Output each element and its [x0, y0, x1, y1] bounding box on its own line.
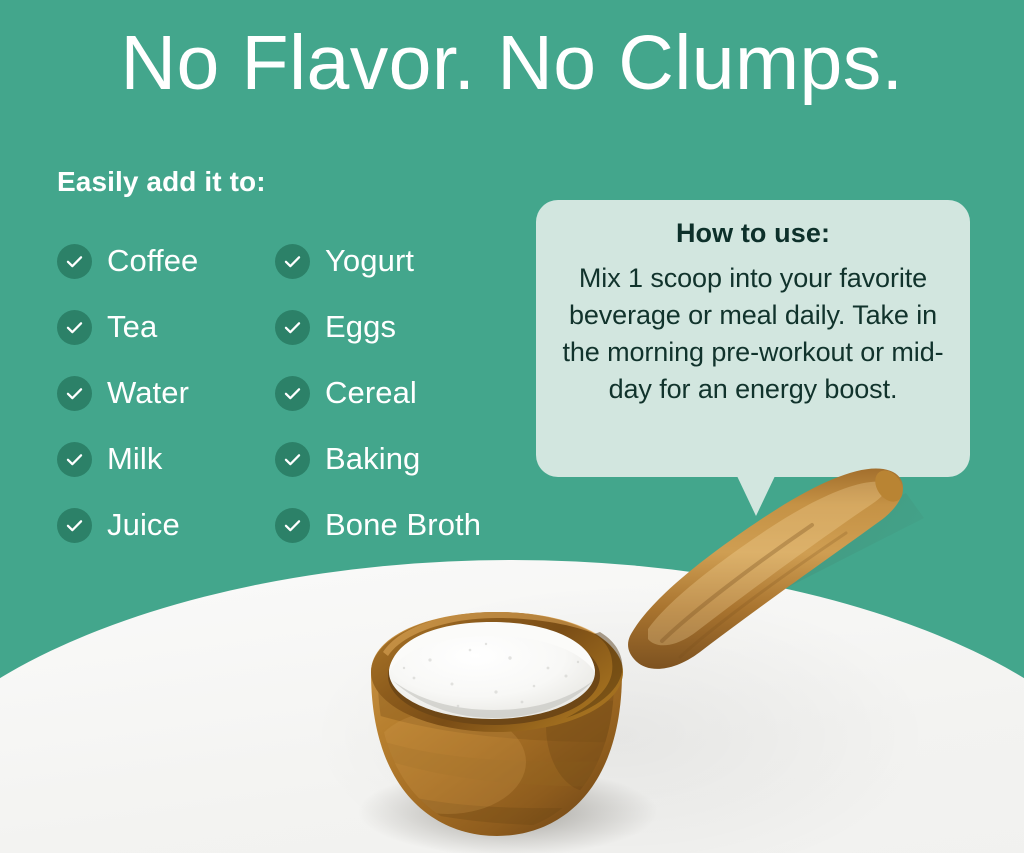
- page-title: No Flavor. No Clumps.: [0, 19, 1024, 108]
- list-item: Cereal: [275, 360, 481, 426]
- check-icon: [275, 244, 310, 279]
- list-item-label: Coffee: [107, 243, 198, 279]
- list-item-label: Milk: [107, 441, 163, 477]
- checklist-column-left: Coffee Tea Water Mil: [57, 228, 198, 558]
- list-item-label: Juice: [107, 507, 180, 543]
- how-to-use-callout: How to use: Mix 1 scoop into your favori…: [536, 200, 970, 477]
- list-item-label: Bone Broth: [325, 507, 481, 543]
- table-surface: [0, 560, 1024, 853]
- check-icon: [275, 442, 310, 477]
- list-item-label: Cereal: [325, 375, 417, 411]
- callout-heading: How to use:: [558, 218, 948, 249]
- check-icon: [57, 376, 92, 411]
- promo-graphic: No Flavor. No Clumps. Easily add it to: …: [0, 0, 1024, 853]
- list-item-label: Water: [107, 375, 189, 411]
- check-icon: [57, 508, 92, 543]
- list-item: Coffee: [57, 228, 198, 294]
- check-icon: [275, 508, 310, 543]
- checklist-heading: Easily add it to:: [57, 166, 266, 198]
- list-item: Bone Broth: [275, 492, 481, 558]
- list-item: Tea: [57, 294, 198, 360]
- list-item-label: Baking: [325, 441, 420, 477]
- list-item: Yogurt: [275, 228, 481, 294]
- callout-tail: [737, 476, 775, 516]
- list-item-label: Tea: [107, 309, 157, 345]
- list-item-label: Eggs: [325, 309, 396, 345]
- check-icon: [275, 376, 310, 411]
- callout-body: Mix 1 scoop into your favorite beverage …: [558, 260, 948, 408]
- list-item: Juice: [57, 492, 198, 558]
- check-icon: [275, 310, 310, 345]
- list-item: Baking: [275, 426, 481, 492]
- check-icon: [57, 310, 92, 345]
- list-item: Eggs: [275, 294, 481, 360]
- list-item: Water: [57, 360, 198, 426]
- check-icon: [57, 244, 92, 279]
- checklist-column-right: Yogurt Eggs Cereal B: [275, 228, 481, 558]
- list-item: Milk: [57, 426, 198, 492]
- list-item-label: Yogurt: [325, 243, 414, 279]
- check-icon: [57, 442, 92, 477]
